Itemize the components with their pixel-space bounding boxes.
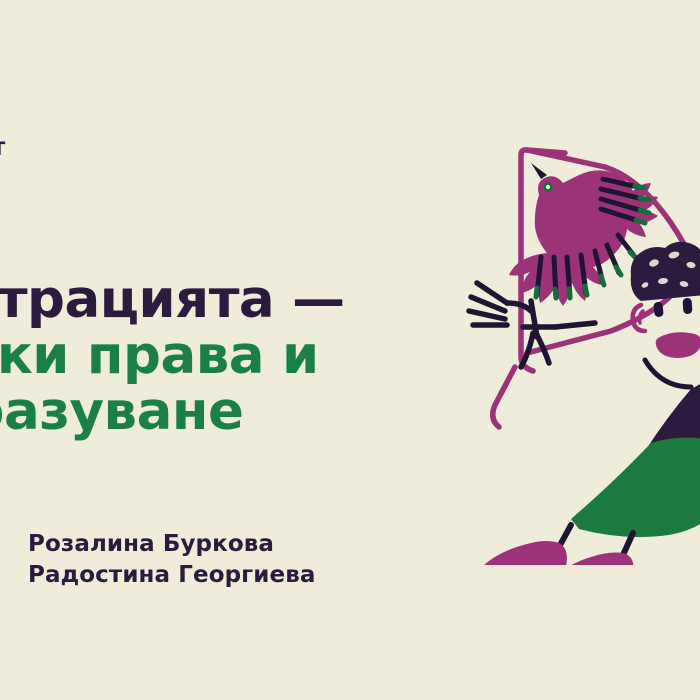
bird-beak: [531, 163, 547, 179]
logo-line-1: М: [0, 116, 146, 138]
jaw-line: [645, 360, 691, 387]
eyes: [653, 298, 692, 318]
author-list: Розалина Буркова Радостина Георгиева: [28, 529, 315, 591]
university-logo: М ТЕТ: [0, 116, 146, 161]
mouth: [656, 332, 700, 358]
hair: [631, 242, 700, 301]
author-name-2: Радостина Георгиева: [28, 560, 315, 591]
illustration-child-with-kite: [455, 105, 700, 565]
poster-canvas: М ТЕТ острацията — оски права и бразуван…: [0, 0, 700, 700]
shoe-right: [556, 553, 633, 566]
child-figure: [480, 242, 700, 565]
author-name-1: Розалина Буркова: [28, 529, 315, 560]
shoe-left: [480, 541, 567, 565]
logo-line-2: ТЕТ: [0, 138, 146, 160]
skirt: [571, 438, 700, 537]
bird-eye-highlight: [546, 185, 550, 189]
